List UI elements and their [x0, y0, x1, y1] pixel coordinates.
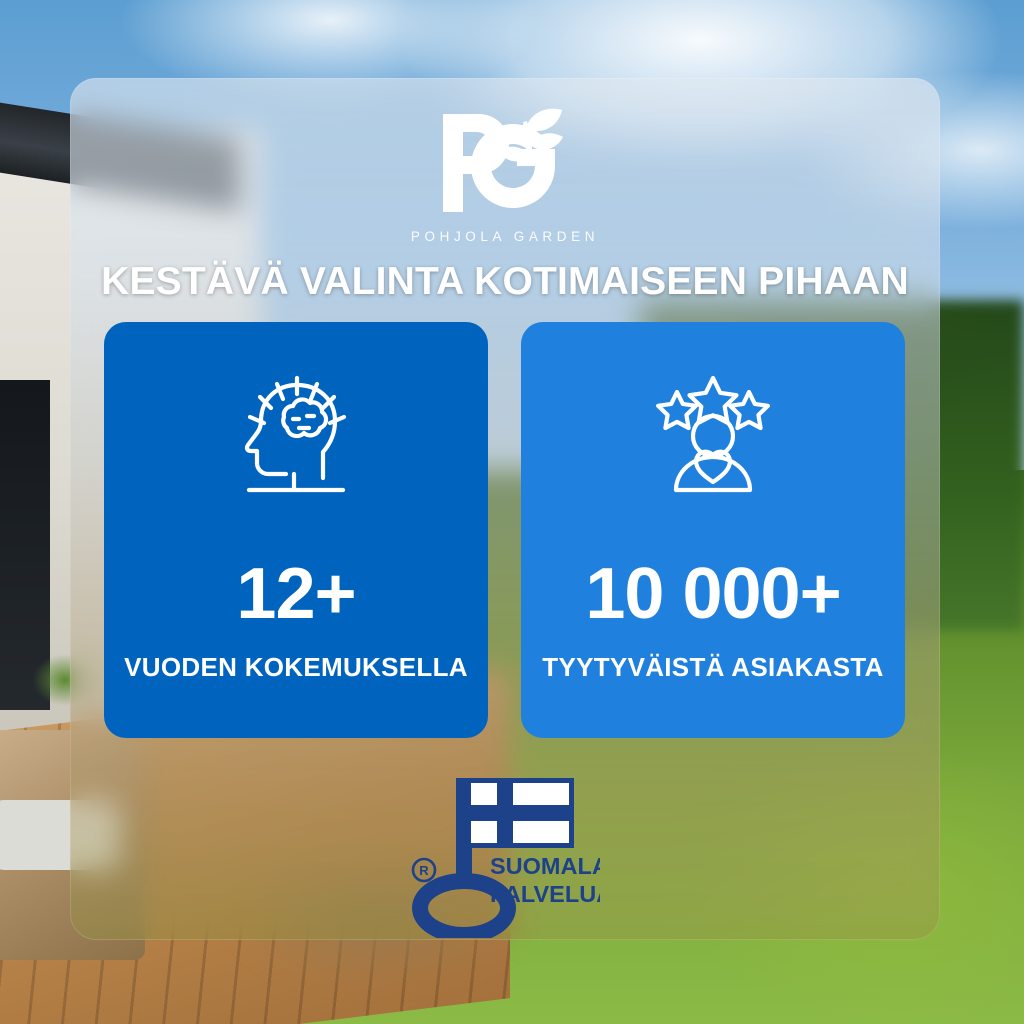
stat-card-experience[interactable]: 12+ VUODEN KOKEMUKSELLA [104, 322, 488, 738]
brand-logo: POHJOLA GARDEN [70, 108, 940, 244]
promo-banner: POHJOLA GARDEN KESTÄVÄ VALINTA KOTIMAISE… [0, 0, 1024, 1024]
stat-number: 12+ [236, 558, 355, 630]
stat-card-customers[interactable]: 10 000+ TYYTYVÄISTÄ ASIAKASTA [521, 322, 905, 738]
stat-number: 10 000+ [585, 558, 840, 630]
page-title: KESTÄVÄ VALINTA KOTIMAISEEN PIHAAN [70, 260, 940, 304]
finnish-key-flag-badge[interactable]: R SUOMALAISTA PALVELUA [70, 768, 940, 940]
stat-label: VUODEN KOKEMUKSELLA [124, 652, 468, 683]
stat-cards: 12+ VUODEN KOKEMUKSELLA [104, 322, 906, 738]
head-with-brain-idea-icon [237, 366, 355, 506]
brand-wordmark: POHJOLA GARDEN [70, 229, 940, 244]
keyflag-line2: PALVELUA [490, 881, 600, 907]
svg-text:R: R [419, 863, 429, 878]
glass-panel: POHJOLA GARDEN KESTÄVÄ VALINTA KOTIMAISE… [70, 78, 940, 940]
person-with-heart-three-stars-icon [654, 366, 772, 506]
keyflag-line1: SUOMALAISTA [490, 853, 600, 879]
pg-leaf-monogram-icon [435, 108, 575, 223]
finnish-key-flag-icon: R SUOMALAISTA PALVELUA [410, 768, 600, 940]
stat-label: TYYTYVÄISTÄ ASIAKASTA [542, 652, 883, 683]
